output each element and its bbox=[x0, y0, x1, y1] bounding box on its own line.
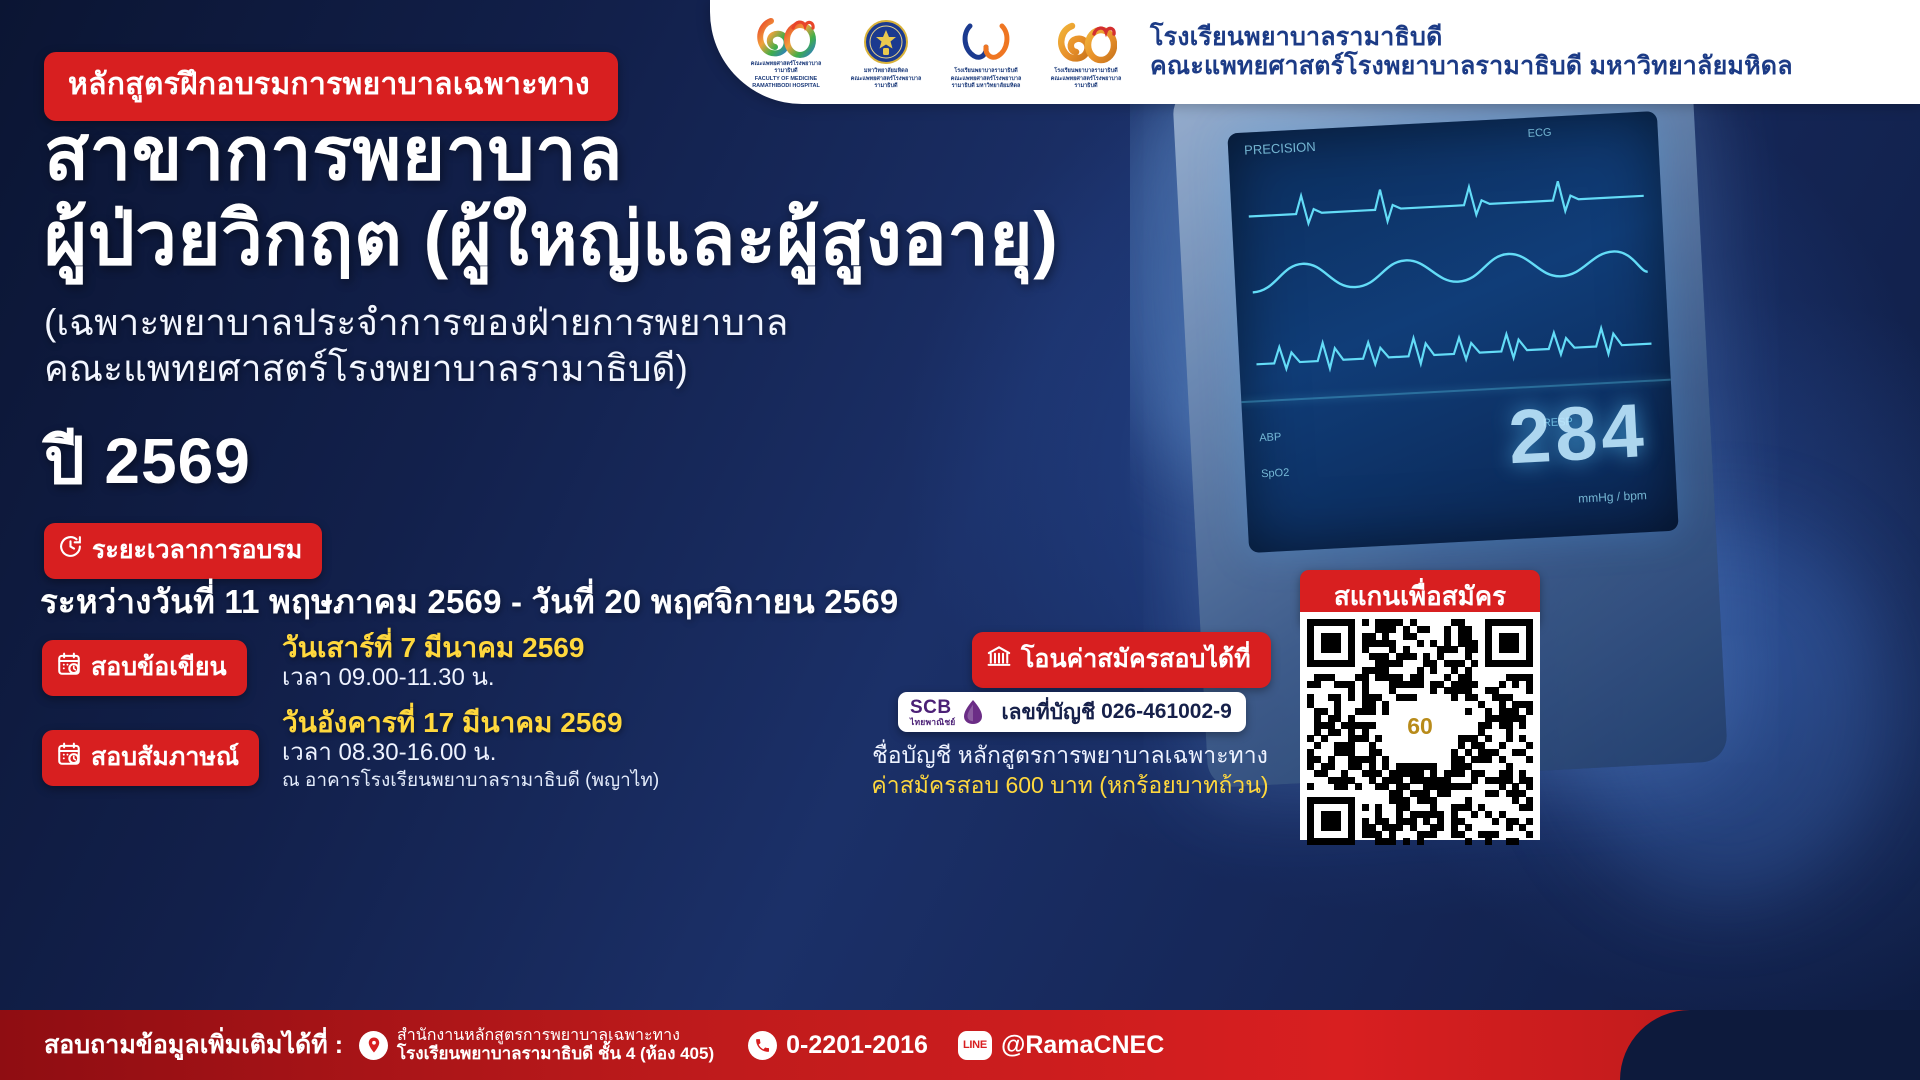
footer-line-id[interactable]: LINE @RamaCNEC bbox=[958, 1031, 1164, 1060]
bank-account-number: เลขที่บัญชี 026-461002-9 bbox=[995, 692, 1245, 732]
account-number: 026-461002-9 bbox=[1101, 700, 1232, 724]
payment-label: โอนค่าสมัครสอบได้ที่ bbox=[1021, 639, 1251, 679]
written-exam-label: สอบข้อเขียน bbox=[91, 647, 227, 687]
program-year: ปี 2569 bbox=[44, 410, 251, 512]
subtitle-line-1: (เฉพาะพยาบาลประจำการของฝ่ายการพยาบาล bbox=[44, 300, 788, 346]
ramathibodi-60th-anniversary-logo: คณะแพทยศาสตร์โรงพยาบาลรามาธิบดี FACULTY … bbox=[744, 15, 828, 89]
address-line-2: โรงเรียนพยาบาลรามาธิบดี ชั้น 4 (ห้อง 405… bbox=[397, 1044, 714, 1063]
duration-label: ระยะเวลาการอบรม bbox=[92, 530, 302, 570]
mahidol-university-logo: มหาวิทยาลัยมหิดล คณะแพทยศาสตร์โรงพยาบาลร… bbox=[844, 15, 928, 89]
org-line-1: โรงเรียนพยาบาลรามาธิบดี bbox=[1150, 23, 1793, 52]
monitor-reading: 284 bbox=[1507, 387, 1650, 481]
page-title: สาขาการพยาบาล ผู้ป่วยวิกฤต (ผู้ใหญ่และผู… bbox=[44, 118, 1058, 275]
interview-exam-place: ณ อาคารโรงเรียนพยาบาลรามาธิบดี (พญาไท) bbox=[282, 770, 659, 793]
phone-number: 0-2201-2016 bbox=[786, 1031, 928, 1060]
phone-icon bbox=[748, 1031, 777, 1060]
qr-center-logo: 60 bbox=[1391, 697, 1449, 755]
logo-caption-sub: คณะแพทยศาสตร์โรงพยาบาลรามาธิบดี bbox=[1044, 76, 1128, 89]
footer-corner-curve bbox=[1620, 1010, 1920, 1080]
org-line-2: คณะแพทยศาสตร์โรงพยาบาลรามาธิบดี มหาวิทยา… bbox=[1150, 52, 1793, 81]
scb-logo-text: SCB bbox=[910, 698, 955, 717]
written-exam-date: วันเสาร์ที่ 7 มีนาคม 2569 bbox=[282, 632, 584, 663]
ramathibodi-school-of-nursing-logo: โรงเรียนพยาบาลรามาธิบดี คณะแพทยศาสตร์โรง… bbox=[944, 15, 1028, 89]
line-app-icon: LINE bbox=[958, 1031, 992, 1060]
monitor-screen: PRECISION ECG ABP SpO2 RESP 284 bbox=[1227, 111, 1678, 553]
logo-caption-sub: คณะแพทยศาสตร์โรงพยาบาลรามาธิบดี มหาวิทยา… bbox=[944, 76, 1028, 89]
duration-range: ระหว่างวันที่ 11 พฤษภาคม 2569 - วันที่ 2… bbox=[40, 575, 898, 628]
written-exam-badge: สอบข้อเขียน bbox=[42, 640, 247, 696]
payment-badge: โอนค่าสมัครสอบได้ที่ bbox=[972, 632, 1271, 688]
calendar-clock-icon bbox=[56, 741, 82, 774]
footer-phone[interactable]: 0-2201-2016 bbox=[748, 1031, 928, 1060]
contact-footer: สอบถามข้อมูลเพิ่มเติมได้ที่ : สำนักงานหล… bbox=[0, 1010, 1920, 1080]
bank-account-row: SCB ไทยพาณิชย์ เลขที่บัญชี 026-461002-9 bbox=[898, 692, 1246, 732]
title-line-1: สาขาการพยาบาล bbox=[44, 112, 623, 195]
written-exam-time: เวลา 09.00-11.30 น. bbox=[282, 664, 584, 693]
header-band: คณะแพทยศาสตร์โรงพยาบาลรามาธิบดี FACULTY … bbox=[710, 0, 1920, 104]
calendar-clock-icon bbox=[56, 651, 82, 684]
written-exam-details: วันเสาร์ที่ 7 มีนาคม 2569 เวลา 09.00-11.… bbox=[282, 632, 584, 693]
program-type-badge: หลักสูตรฝึกอบรมการพยาบาลเฉพาะทาง bbox=[44, 52, 618, 121]
line-id: @RamaCNEC bbox=[1001, 1031, 1164, 1060]
scb-leaf-icon bbox=[962, 699, 984, 725]
interview-exam-details: วันอังคารที่ 17 มีนาคม 2569 เวลา 08.30-1… bbox=[282, 707, 659, 793]
logo-caption: โรงเรียนพยาบาลรามาธิบดี bbox=[1054, 68, 1117, 74]
interview-exam-date: วันอังคารที่ 17 มีนาคม 2569 bbox=[282, 707, 659, 738]
logo-caption-sub: คณะแพทยศาสตร์โรงพยาบาลรามาธิบดี bbox=[844, 76, 928, 89]
program-subtitle: (เฉพาะพยาบาลประจำการของฝ่ายการพยาบาล คณะ… bbox=[44, 300, 788, 393]
interview-exam-badge: สอบสัมภาษณ์ bbox=[42, 730, 259, 786]
qr-code[interactable]: 60 bbox=[1300, 612, 1540, 840]
clock-icon bbox=[58, 534, 83, 566]
footer-lead: สอบถามข้อมูลเพิ่มเติมได้ที่ : bbox=[44, 1025, 343, 1065]
location-pin-icon bbox=[359, 1031, 388, 1060]
nursing-school-60th-logo: โรงเรียนพยาบาลรามาธิบดี คณะแพทยศาสตร์โรง… bbox=[1044, 15, 1128, 89]
scb-bank-logo: SCB ไทยพาณิชย์ bbox=[898, 692, 995, 732]
scb-logo-text-th: ไทยพาณิชย์ bbox=[910, 718, 955, 727]
account-label: เลขที่บัญชี bbox=[1001, 696, 1095, 729]
medical-monitor-photo: PRECISION ECG ABP SpO2 RESP 284 bbox=[1130, 0, 1920, 1010]
organization-name: โรงเรียนพยาบาลรามาธิบดี คณะแพทยศาสตร์โรง… bbox=[1150, 23, 1793, 81]
address-line-1: สำนักงานหลักสูตรการพยาบาลเฉพาะทาง bbox=[397, 1027, 714, 1045]
application-fee: ค่าสมัครสอบ 600 บาท (หกร้อยบาทถ้วน) bbox=[870, 768, 1270, 804]
bank-icon bbox=[986, 643, 1012, 676]
title-line-2: ผู้ป่วยวิกฤต (ผู้ใหญ่และผู้สูงอายุ) bbox=[44, 203, 1058, 276]
logo-caption: โรงเรียนพยาบาลรามาธิบดี bbox=[954, 68, 1017, 74]
footer-address: สำนักงานหลักสูตรการพยาบาลเฉพาะทาง โรงเรี… bbox=[359, 1027, 714, 1064]
poster-canvas: PRECISION ECG ABP SpO2 RESP 284 bbox=[0, 0, 1920, 1080]
qr-center-glyph: 60 bbox=[1407, 715, 1433, 738]
qr-code-canvas: 60 bbox=[1307, 619, 1533, 833]
interview-exam-time: เวลา 08.30-16.00 น. bbox=[282, 739, 659, 768]
duration-badge: ระยะเวลาการอบรม bbox=[44, 523, 322, 579]
logo-caption: มหาวิทยาลัยมหิดล bbox=[864, 68, 908, 74]
logo-group: คณะแพทยศาสตร์โรงพยาบาลรามาธิบดี FACULTY … bbox=[744, 15, 1128, 89]
logo-caption: คณะแพทยศาสตร์โรงพยาบาลรามาธิบดี bbox=[744, 61, 828, 74]
logo-caption-sub: FACULTY OF MEDICINE RAMATHIBODI HOSPITAL bbox=[744, 76, 828, 89]
subtitle-line-2: คณะแพทยศาสตร์โรงพยาบาลรามาธิบดี) bbox=[44, 346, 788, 392]
interview-exam-label: สอบสัมภาษณ์ bbox=[91, 737, 239, 777]
